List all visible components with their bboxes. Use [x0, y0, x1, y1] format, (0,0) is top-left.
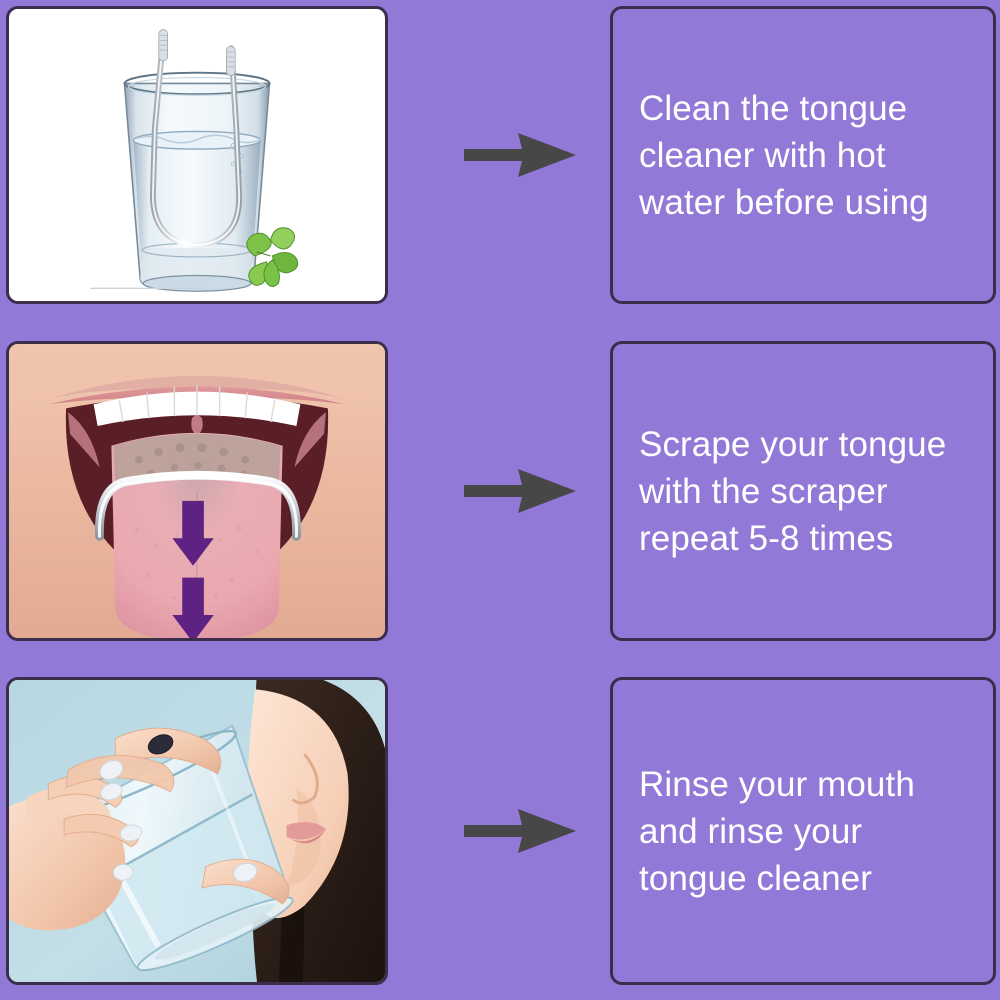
instruction-infographic: Clean the tongue cleaner with hot water …: [0, 0, 1000, 1000]
right-arrow-icon: [460, 125, 580, 185]
step-row-1: Clean the tongue cleaner with hot water …: [0, 6, 1000, 304]
step-3-text-line-1: Rinse your mouth: [639, 761, 967, 808]
step-2-arrow: [440, 341, 600, 641]
step-3-text-line-2: and rinse your: [639, 808, 967, 855]
step-3-arrow: [440, 677, 600, 985]
step-1-text-line-1: Clean the tongue: [639, 85, 967, 132]
step-row-3: Rinse your mouth and rinse your tongue c…: [0, 677, 1000, 985]
step-3-text-card: Rinse your mouth and rinse your tongue c…: [610, 677, 996, 985]
step-3-image-panel: [6, 677, 388, 985]
step-2-text-card: Scrape your tongue with the scraper repe…: [610, 341, 996, 641]
step-1-text-line-3: water before using: [639, 179, 967, 226]
step-3-text-line-3: tongue cleaner: [639, 855, 967, 902]
step-1-text-card: Clean the tongue cleaner with hot water …: [610, 6, 996, 304]
right-arrow-icon: [460, 461, 580, 521]
step-2-image-panel: [6, 341, 388, 641]
step-2-text-line-3: repeat 5-8 times: [639, 515, 967, 562]
step-1-image-panel: [6, 6, 388, 304]
open-mouth-tongue-scraping-illustration: [9, 344, 385, 638]
step-2-text-line-2: with the scraper: [639, 468, 967, 515]
step-1-text-line-2: cleaner with hot: [639, 132, 967, 179]
woman-drinking-water-illustration: [9, 680, 385, 982]
glass-of-water-with-tongue-cleaner-illustration: [9, 9, 385, 301]
step-2-text-line-1: Scrape your tongue: [639, 421, 967, 468]
step-1-arrow: [440, 6, 600, 304]
right-arrow-icon: [460, 801, 580, 861]
step-row-2: Scrape your tongue with the scraper repe…: [0, 341, 1000, 641]
